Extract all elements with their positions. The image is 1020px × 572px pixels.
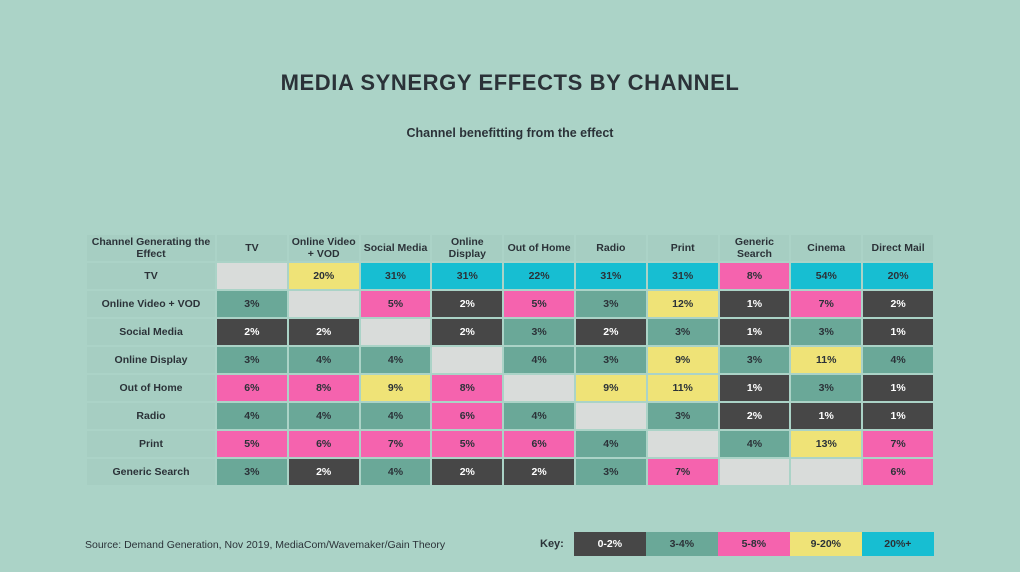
matrix-cell: 7% — [791, 291, 861, 317]
matrix-cell: 3% — [217, 459, 287, 485]
matrix-row: Out of Home6%8%9%8%9%11%1%3%1% — [87, 375, 933, 401]
matrix-column-header: Online Video + VOD — [289, 235, 359, 261]
matrix-cell: 31% — [648, 263, 718, 289]
matrix-row-header: TV — [87, 263, 215, 289]
matrix-cell: 3% — [217, 347, 287, 373]
matrix-cell: 3% — [648, 319, 718, 345]
legend-swatch: 20%+ — [862, 532, 934, 556]
matrix-cell: 3% — [720, 347, 790, 373]
matrix-cell: 31% — [432, 263, 502, 289]
matrix-cell: 2% — [720, 403, 790, 429]
matrix-cell: 6% — [217, 375, 287, 401]
matrix-column-header: Online Display — [432, 235, 502, 261]
matrix-column-header: TV — [217, 235, 287, 261]
matrix-cell — [720, 459, 790, 485]
matrix-cell: 22% — [504, 263, 574, 289]
matrix-column-header: Print — [648, 235, 718, 261]
matrix-cell: 1% — [720, 375, 790, 401]
matrix-cell: 2% — [863, 291, 933, 317]
matrix-row-header: Social Media — [87, 319, 215, 345]
matrix-cell: 2% — [289, 319, 359, 345]
matrix-cell: 11% — [648, 375, 718, 401]
matrix-cell: 7% — [648, 459, 718, 485]
matrix-cell: 9% — [361, 375, 431, 401]
matrix-cell: 1% — [863, 403, 933, 429]
matrix-cell: 4% — [361, 403, 431, 429]
matrix-cell: 11% — [791, 347, 861, 373]
matrix-cell: 2% — [432, 319, 502, 345]
matrix-cell: 9% — [648, 347, 718, 373]
matrix-row-header: Online Display — [87, 347, 215, 373]
matrix-cell: 7% — [361, 431, 431, 457]
matrix-cell — [289, 291, 359, 317]
legend-swatch: 9-20% — [790, 532, 862, 556]
legend-swatch: 5-8% — [718, 532, 790, 556]
matrix-cell: 2% — [576, 319, 646, 345]
matrix-cell: 4% — [504, 403, 574, 429]
matrix-cell: 4% — [576, 431, 646, 457]
matrix-cell: 3% — [504, 319, 574, 345]
matrix-cell: 54% — [791, 263, 861, 289]
matrix-row: TV20%31%31%22%31%31%8%54%20% — [87, 263, 933, 289]
matrix-row-header: Print — [87, 431, 215, 457]
matrix-header-row: Channel Generating the Effect TVOnline V… — [87, 235, 933, 261]
matrix-cell: 4% — [504, 347, 574, 373]
matrix-cell: 2% — [289, 459, 359, 485]
matrix-column-header: Cinema — [791, 235, 861, 261]
matrix-cell: 9% — [576, 375, 646, 401]
matrix-column-header: Direct Mail — [863, 235, 933, 261]
matrix-row-header: Out of Home — [87, 375, 215, 401]
matrix-row: Radio4%4%4%6%4%3%2%1%1% — [87, 403, 933, 429]
matrix-column-header: Radio — [576, 235, 646, 261]
matrix-row-header: Online Video + VOD — [87, 291, 215, 317]
legend: Key: 0-2%3-4%5-8%9-20%20%+ — [540, 532, 934, 556]
matrix-cell: 1% — [863, 375, 933, 401]
matrix-row-header: Radio — [87, 403, 215, 429]
matrix-body: TV20%31%31%22%31%31%8%54%20%Online Video… — [87, 263, 933, 485]
matrix-header: Channel Generating the Effect TVOnline V… — [87, 235, 933, 261]
matrix-cell: 31% — [361, 263, 431, 289]
legend-swatch: 3-4% — [646, 532, 718, 556]
matrix-cell: 31% — [576, 263, 646, 289]
matrix-cell — [504, 375, 574, 401]
matrix-cell: 2% — [432, 291, 502, 317]
matrix-cell: 1% — [720, 319, 790, 345]
matrix-row: Generic Search3%2%4%2%2%3%7%6% — [87, 459, 933, 485]
matrix-cell: 4% — [289, 403, 359, 429]
matrix-cell: 2% — [217, 319, 287, 345]
matrix-cell: 6% — [432, 403, 502, 429]
matrix-cell: 1% — [863, 319, 933, 345]
matrix-cell: 13% — [791, 431, 861, 457]
matrix-cell — [648, 431, 718, 457]
matrix-cell: 8% — [432, 375, 502, 401]
matrix-cell — [432, 347, 502, 373]
matrix-cell: 4% — [361, 347, 431, 373]
matrix-cell: 4% — [217, 403, 287, 429]
matrix-cell: 7% — [863, 431, 933, 457]
matrix-row: Online Video + VOD3%5%2%5%3%12%1%7%2% — [87, 291, 933, 317]
matrix-cell: 2% — [432, 459, 502, 485]
source-note: Source: Demand Generation, Nov 2019, Med… — [85, 537, 540, 551]
matrix-row: Social Media2%2%2%3%2%3%1%3%1% — [87, 319, 933, 345]
synergy-matrix-container: Channel Generating the Effect TVOnline V… — [85, 233, 935, 487]
matrix-cell — [217, 263, 287, 289]
matrix-cell: 3% — [791, 375, 861, 401]
matrix-row: Online Display3%4%4%4%3%9%3%11%4% — [87, 347, 933, 373]
matrix-cell: 4% — [863, 347, 933, 373]
matrix-cell: 5% — [217, 431, 287, 457]
matrix-cell: 4% — [289, 347, 359, 373]
matrix-cell: 5% — [432, 431, 502, 457]
legend-swatch: 0-2% — [574, 532, 646, 556]
matrix-cell: 20% — [863, 263, 933, 289]
matrix-cell: 3% — [217, 291, 287, 317]
matrix-cell: 8% — [720, 263, 790, 289]
matrix-corner-header: Channel Generating the Effect — [87, 235, 215, 261]
matrix-column-header: Social Media — [361, 235, 431, 261]
matrix-cell: 3% — [791, 319, 861, 345]
chart-subtitle: Channel benefitting from the effect — [0, 126, 1020, 140]
matrix-cell: 20% — [289, 263, 359, 289]
matrix-cell: 3% — [648, 403, 718, 429]
matrix-cell: 4% — [361, 459, 431, 485]
matrix-cell: 8% — [289, 375, 359, 401]
matrix-cell: 5% — [504, 291, 574, 317]
matrix-cell: 2% — [504, 459, 574, 485]
matrix-cell: 1% — [791, 403, 861, 429]
matrix-cell: 3% — [576, 347, 646, 373]
matrix-cell — [361, 319, 431, 345]
matrix-cell: 4% — [720, 431, 790, 457]
matrix-cell: 1% — [720, 291, 790, 317]
matrix-row-header: Generic Search — [87, 459, 215, 485]
matrix-cell: 12% — [648, 291, 718, 317]
matrix-cell — [576, 403, 646, 429]
page-title: MEDIA SYNERGY EFFECTS BY CHANNEL — [0, 70, 1020, 96]
legend-label: Key: — [540, 538, 564, 550]
matrix-cell: 3% — [576, 459, 646, 485]
matrix-column-header: Out of Home — [504, 235, 574, 261]
synergy-matrix-table: Channel Generating the Effect TVOnline V… — [85, 233, 935, 487]
matrix-cell: 3% — [576, 291, 646, 317]
matrix-cell: 6% — [289, 431, 359, 457]
matrix-cell: 6% — [504, 431, 574, 457]
matrix-cell: 6% — [863, 459, 933, 485]
matrix-row: Print5%6%7%5%6%4%4%13%7% — [87, 431, 933, 457]
footer-row: Source: Demand Generation, Nov 2019, Med… — [85, 532, 935, 556]
matrix-cell — [791, 459, 861, 485]
matrix-column-header: Generic Search — [720, 235, 790, 261]
matrix-cell: 5% — [361, 291, 431, 317]
